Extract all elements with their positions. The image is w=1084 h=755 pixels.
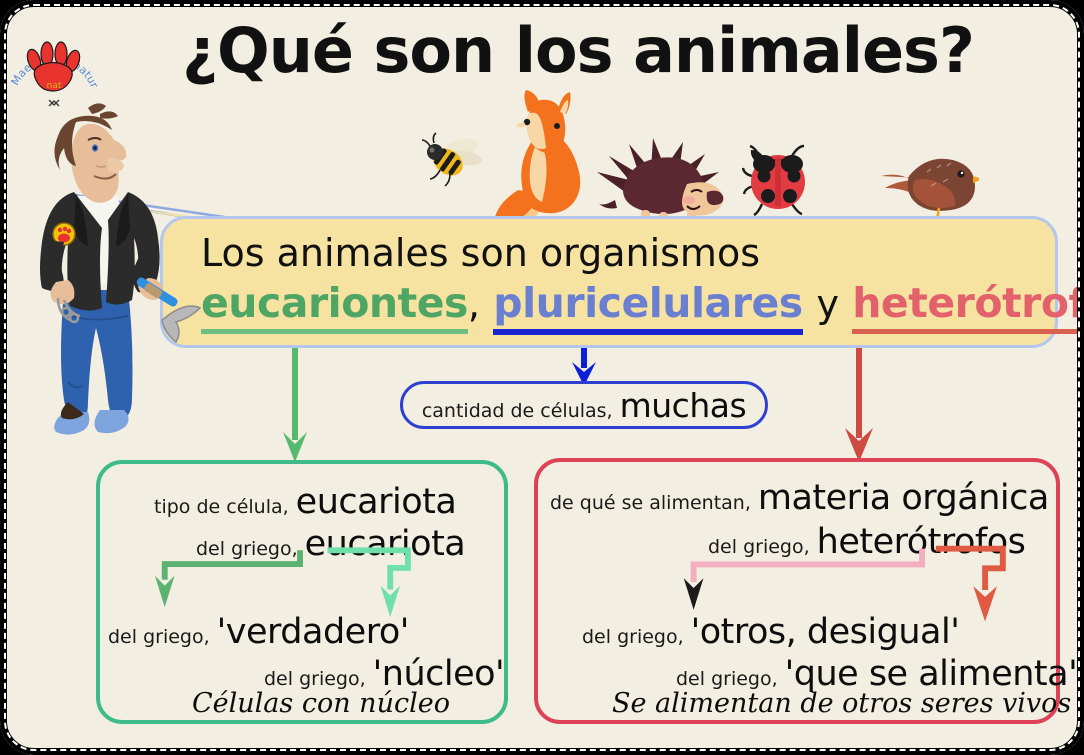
green-row-3: del griego, 'verdadero' <box>108 612 409 652</box>
keyword-eucariontes[interactable]: eucariontes <box>201 279 468 334</box>
green-row2-label: del griego, <box>196 538 298 560</box>
green-row-1: tipo de célula, eucariota <box>154 482 456 522</box>
main-box-comma: , <box>468 282 480 326</box>
svg-text:nat: nat <box>47 81 62 91</box>
red-row-3: del griego, 'otros, desigual' <box>582 612 959 652</box>
red-row2-value: heterótrofos <box>817 522 1026 562</box>
red-row-2: del griego, heterótrofos <box>708 522 1025 562</box>
fox-illustration <box>490 86 602 228</box>
green-row1-value: eucariota <box>296 482 457 522</box>
green-row2-value: eucariota <box>305 524 466 564</box>
red-row3-value: 'otros, desigual' <box>691 612 960 652</box>
red-row2-label: del griego, <box>708 536 810 558</box>
main-box-line1: Los animales son organismos <box>201 231 1031 275</box>
red-row4-label: del griego, <box>676 668 778 690</box>
infographic-poster: Maestro de naturales nat ¿Qué son los an… <box>0 0 1084 755</box>
main-definition-box: Los animales son organismos eucariontes,… <box>160 216 1058 348</box>
red-conclusion: Se alimentan de otros seres vivos <box>612 688 1071 719</box>
red-row3-label: del griego, <box>582 626 684 648</box>
keyword-pluricelulares[interactable]: pluricelulares <box>493 279 802 335</box>
eucariota-detail-box: tipo de célula, eucariota del griego, eu… <box>96 460 508 724</box>
green-conclusion: Células con núcleo <box>192 688 450 719</box>
arrow-green-to-eucariota <box>283 330 307 462</box>
bee-illustration <box>418 128 488 190</box>
red-row1-value: materia orgánica <box>758 478 1049 518</box>
page-title: ¿Qué son los animales? <box>108 14 1048 87</box>
pluricelular-detail-box: cantidad de células, muchas <box>400 381 768 429</box>
heterotrofo-detail-box: de qué se alimentan, materia orgánica de… <box>534 458 1060 724</box>
maestro-de-naturales-logo: Maestro de naturales nat <box>6 18 102 114</box>
cartoon-teacher <box>2 100 202 440</box>
red-row1-label: de qué se alimentan, <box>550 492 751 514</box>
blue-box-value: muchas <box>620 386 747 425</box>
main-box-conjunction: y <box>816 282 838 326</box>
hedgehog-illustration <box>595 130 735 230</box>
green-row1-label: tipo de célula, <box>154 496 289 518</box>
arrow-red-to-heterotrofo <box>845 330 873 462</box>
ladybug-illustration <box>742 142 814 216</box>
green-row4-label: del griego, <box>264 668 366 690</box>
green-row3-value: 'verdadero' <box>217 612 409 652</box>
blue-box-label: cantidad de células, <box>422 400 613 422</box>
green-row-2: del griego, eucariota <box>196 524 465 564</box>
red-row-1: de qué se alimentan, materia orgánica <box>550 478 1049 518</box>
keyword-heterotrofos[interactable]: heterótrofos <box>852 279 1084 334</box>
green-row3-label: del griego, <box>108 626 210 648</box>
bird-illustration <box>875 152 979 224</box>
main-box-line2: eucariontes, pluricelulares y heterótrof… <box>201 279 1031 335</box>
